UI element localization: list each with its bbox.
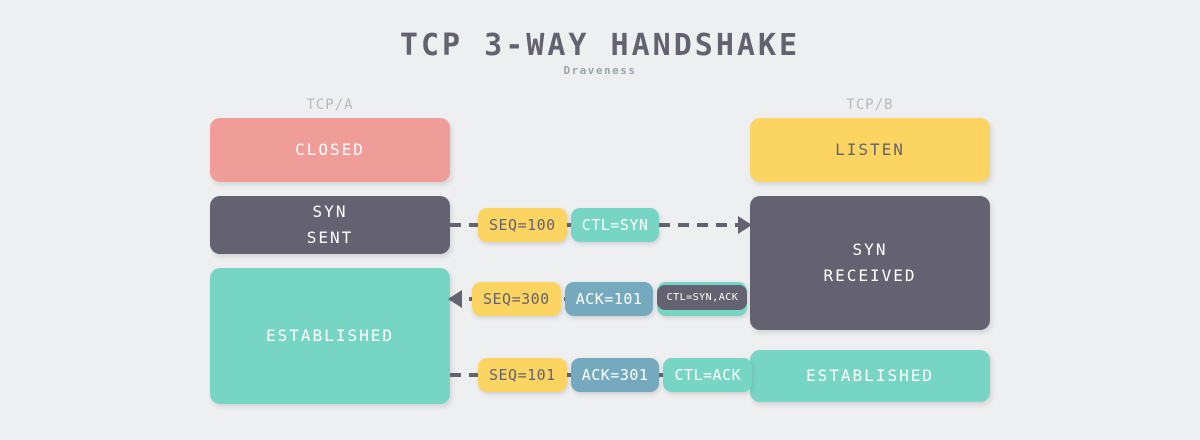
segment-ctl-1: CTL=SYN xyxy=(571,208,660,242)
arrowhead-right-icon-1 xyxy=(738,216,752,234)
segment-ack-3: ACK=301 xyxy=(571,358,660,392)
segment-track-2: SEQ=300 ACK=101 CTL=SYN,ACK xyxy=(472,282,747,316)
state-box-syn-sent: SYN SENT xyxy=(210,196,450,254)
message-row-2: SEQ=300 ACK=101 CTL=SYN,ACK xyxy=(450,282,750,316)
arrowhead-left-icon-2 xyxy=(448,290,462,308)
segment-seq-3: SEQ=101 xyxy=(478,358,567,392)
state-box-established-left: ESTABLISHED xyxy=(210,268,450,404)
segment-ack-2: ACK=101 xyxy=(565,282,654,316)
page-title: TCP 3-WAY HANDSHAKE xyxy=(0,28,1200,63)
segment-ctl-2: CTL=SYN,ACK xyxy=(657,282,747,316)
state-box-syn-received: SYN RECEIVED xyxy=(750,196,990,330)
column-label-tcp-a: TCP/A xyxy=(210,97,450,113)
state-box-closed: CLOSED xyxy=(210,118,450,182)
segment-track-3: SEQ=101 ACK=301 CTL=ACK xyxy=(478,358,752,392)
segment-ctl-2-label: CTL=SYN,ACK xyxy=(657,285,747,310)
segment-seq-2: SEQ=300 xyxy=(472,282,561,316)
segment-track-1: SEQ=100 CTL=SYN xyxy=(478,208,659,242)
column-label-tcp-b: TCP/B xyxy=(750,97,990,113)
segment-ctl-3: CTL=ACK xyxy=(663,358,752,392)
message-row-3: SEQ=101 ACK=301 CTL=ACK xyxy=(450,358,750,392)
segment-seq-1: SEQ=100 xyxy=(478,208,567,242)
message-row-1: SEQ=100 CTL=SYN xyxy=(450,208,750,242)
state-box-established-right: ESTABLISHED xyxy=(750,350,990,402)
page-subtitle: Draveness xyxy=(0,64,1200,77)
diagram-canvas: TCP 3-WAY HANDSHAKE Draveness TCP/A TCP/… xyxy=(0,0,1200,440)
state-box-listen: LISTEN xyxy=(750,118,990,182)
